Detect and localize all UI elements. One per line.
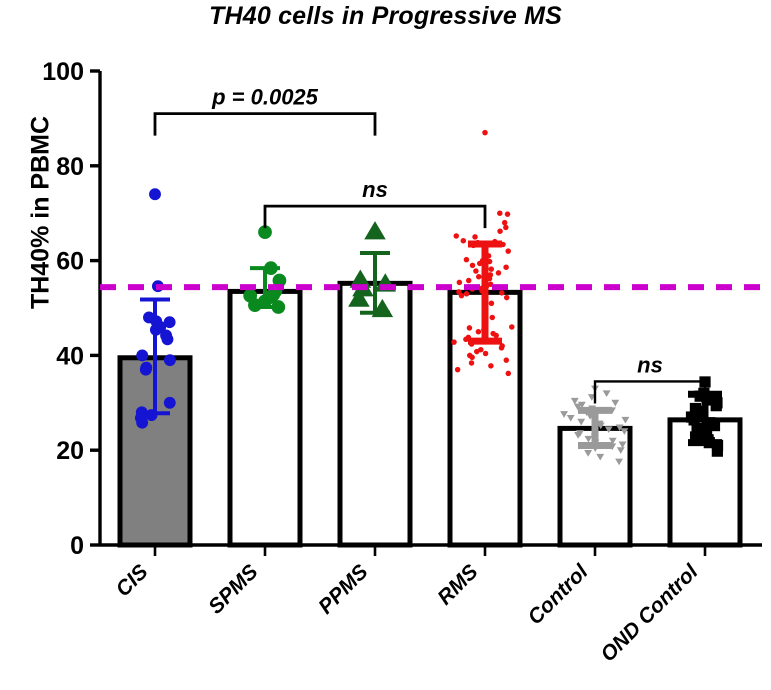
plot-area: 020406080100 p = 0.0025nsns CISSPMSPPMSR…: [0, 0, 771, 690]
y-tick-label: 20: [56, 437, 84, 465]
x-label-spms: SPMS: [204, 560, 262, 618]
y-tick-label: 80: [56, 153, 84, 181]
x-category-labels: CISSPMSPPMSRMSControlOND Control: [112, 559, 704, 666]
y-axis: [90, 71, 100, 545]
bar-spms: [230, 291, 300, 545]
sig-label: ns: [637, 352, 663, 377]
bar-ppms: [340, 283, 410, 545]
sig-bracket-1: p = 0.0025: [155, 85, 375, 136]
error-bars: [140, 244, 722, 445]
sig-label: p = 0.0025: [211, 85, 319, 110]
x-label-ppms: PPMS: [314, 560, 372, 618]
x-label-ond-control: OND Control: [596, 559, 703, 666]
bar-series: [120, 283, 740, 545]
y-tick-labels: 020406080100: [42, 58, 84, 560]
x-axis: [100, 545, 762, 556]
y-tick-label: 40: [56, 342, 84, 370]
figure-container: TH40 cells in Progressive MS TH40% in PB…: [0, 0, 771, 690]
x-label-rms: RMS: [433, 560, 482, 609]
data-points: [135, 130, 723, 465]
x-label-control: Control: [523, 559, 593, 629]
y-tick-label: 0: [70, 532, 84, 560]
sig-bracket-2: ns: [265, 177, 485, 228]
x-label-cis: CIS: [112, 560, 153, 601]
y-tick-label: 100: [42, 58, 84, 86]
y-tick-label: 60: [56, 248, 84, 276]
sig-label: ns: [362, 177, 388, 202]
